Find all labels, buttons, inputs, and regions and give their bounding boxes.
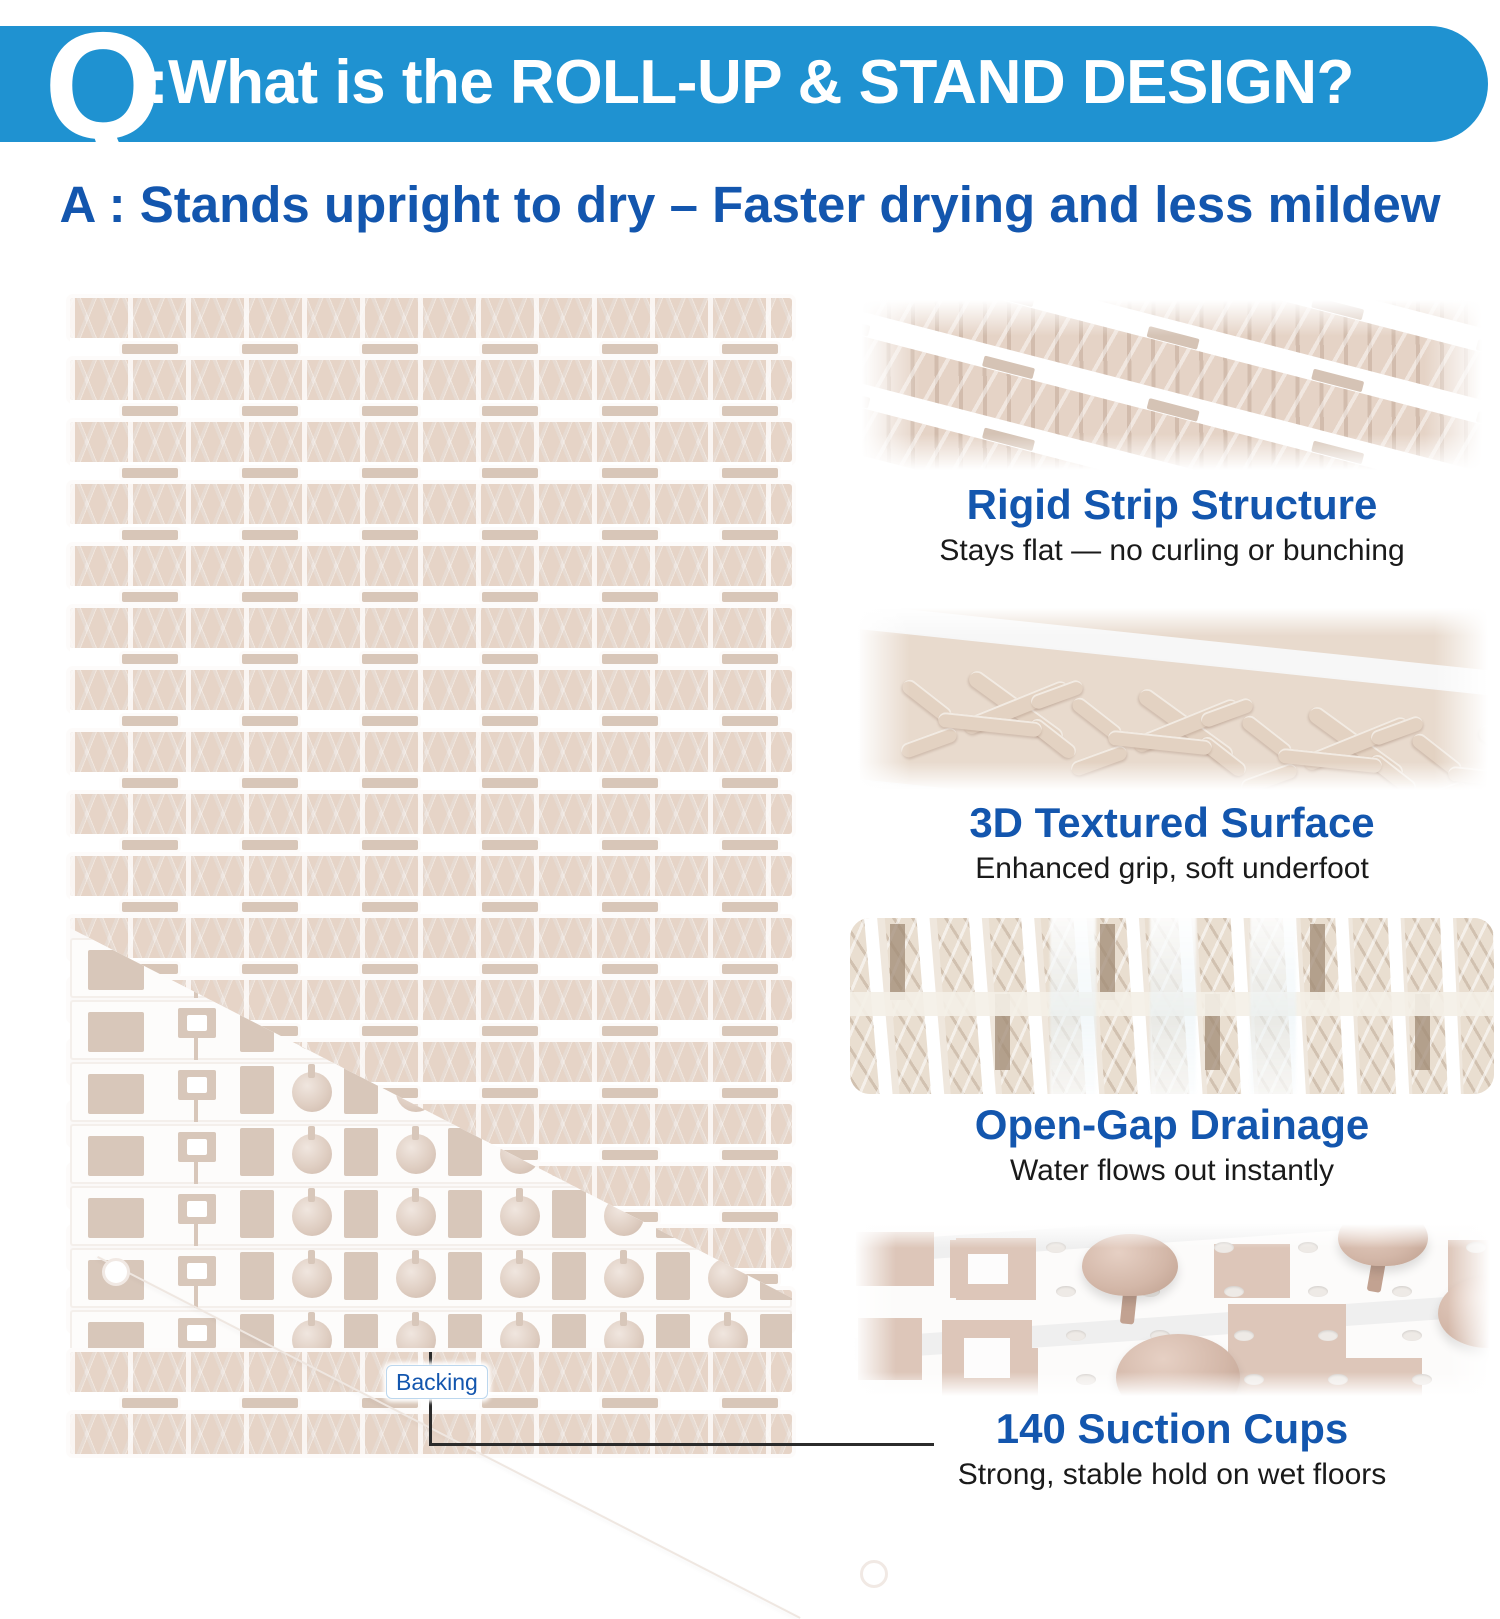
feature-title: 3D Textured Surface [850,798,1494,848]
mat-gap [70,772,792,794]
feature-subtitle: Water flows out instantly [850,1152,1494,1190]
feature-title: Rigid Strip Structure [850,480,1494,530]
mat-strip [70,918,792,958]
feature-subtitle: Stays flat — no curling or bunching [850,532,1494,570]
mat-gap [70,586,792,608]
peel-handle-ring-left-icon [102,1258,130,1286]
mat-strip [70,484,792,524]
water-stream [1150,918,1196,1094]
mat-strip [70,298,792,338]
suction-cup [1082,1234,1178,1296]
mat-gap [70,958,792,980]
mat-gap [70,648,792,670]
feature-subtitle: Strong, stable hold on wet floors [850,1456,1494,1494]
mat-gap [70,896,792,918]
backing-suction-row [70,1310,792,1348]
mat-gap [70,400,792,422]
backing-plate [856,1232,934,1286]
feature-title: Open-Gap Drainage [850,1100,1494,1150]
textured-plank-photo [850,606,1494,792]
mat-gap [70,834,792,856]
feature-title: 140 Suction Cups [850,1404,1494,1454]
question-text: :What is the ROLL-UP & STAND DESIGN? [148,52,1354,114]
suction-cup [1438,1276,1494,1348]
feature-panel-3d-textured-surface: 3D Textured Surface Enhanced grip, soft … [850,606,1494,888]
question-mark-q-icon: Q [44,10,160,162]
backing-plate-hole [950,1240,1024,1298]
water-stream [1250,918,1296,1094]
suction-cups-photo [850,1222,1494,1398]
mat-gap [70,462,792,484]
peel-handle-ring-right-icon [860,1560,888,1588]
mat-strip [70,360,792,400]
suction-cup [1338,1222,1428,1266]
backing-plate [858,1318,922,1380]
backing-plate-hole [942,1320,1032,1396]
mat-strip [70,856,792,896]
backing-callout-label: Backing [386,1365,488,1399]
backing-plate [1298,1358,1422,1398]
feature-panel-open-gap-drainage: Open-Gap Drainage Water flows out instan… [850,918,1494,1190]
feature-panel-140-suction-cups: 140 Suction Cups Strong, stable hold on … [850,1222,1494,1494]
mat-strip [70,608,792,648]
mat-strip [70,546,792,586]
water-stream [1050,918,1096,1094]
suction-cup [1116,1334,1240,1398]
callout-line-horizontal [429,1443,934,1446]
feature-subtitle: Enhanced grip, soft underfoot [850,850,1494,888]
mat-strip [70,794,792,834]
bath-mat-illustration [70,298,792,1348]
mat-strip [70,670,792,710]
mat-gap [70,338,792,360]
mat-strip [70,732,792,772]
water-draining-photo [850,918,1494,1094]
mat-gap [70,524,792,546]
diagonal-strips-photo [850,296,1494,474]
answer-text: A : Stands upright to dry – Faster dryin… [0,176,1500,234]
feature-panel-rigid-strip-structure: Rigid Strip Structure Stays flat — no cu… [850,296,1494,570]
mat-strip [70,422,792,462]
mat-gap [70,710,792,732]
